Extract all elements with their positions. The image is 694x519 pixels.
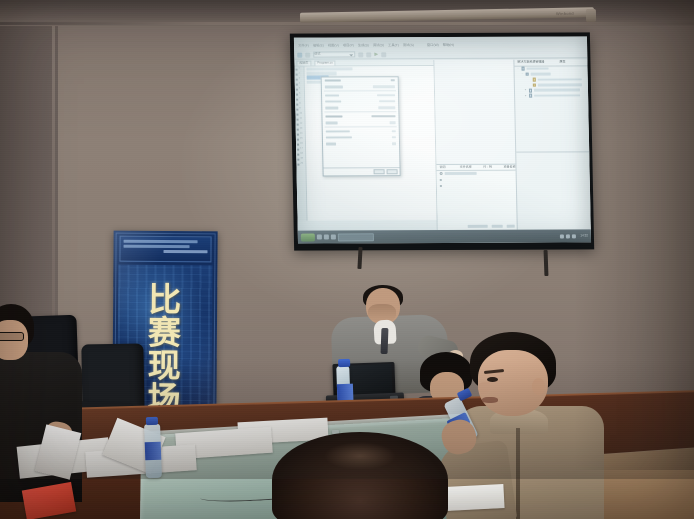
collapse-icon[interactable]: [297, 153, 299, 155]
collapse-icon[interactable]: [296, 88, 298, 90]
collapse-icon[interactable]: [297, 138, 299, 140]
tree-label: [526, 67, 548, 70]
expand-icon[interactable]: +: [524, 89, 527, 92]
popup-row[interactable]: [323, 119, 399, 126]
error-col-project[interactable]: 项目名称: [500, 166, 515, 169]
error-col-line[interactable]: 行 - 列: [480, 166, 500, 169]
line-number: 20: [300, 163, 303, 166]
menu-item-edit[interactable]: 编辑(E): [313, 44, 324, 48]
collapse-icon[interactable]: [297, 123, 299, 125]
menu-item-file[interactable]: 文件(F): [298, 44, 309, 48]
menu-item-window[interactable]: 窗口(W): [427, 44, 439, 48]
menu-item-tools[interactable]: 工具(T): [388, 44, 399, 48]
line-number: 4: [299, 83, 300, 86]
solution-explorer-title: 解决方案资源管理器: [514, 61, 556, 64]
collapse-icon[interactable]: [297, 158, 299, 160]
expand-icon[interactable]: +: [524, 94, 527, 97]
code-line: [307, 72, 337, 76]
tree-label: [534, 94, 580, 97]
error-col-description[interactable]: 说明: [436, 166, 456, 169]
banner-char-1: 比: [113, 283, 217, 317]
collapse-icon[interactable]: [296, 98, 298, 100]
line-number: 5: [299, 88, 300, 91]
run-icon[interactable]: [374, 52, 378, 56]
error-row-text: [445, 172, 477, 175]
presenter-tie: [381, 328, 389, 354]
projected-ide-window: 文件(F) 编辑(E) 视图(V) 项目(P) 生成(B) 调试(D) 工具(T…: [294, 36, 591, 243]
tab-start-page[interactable]: 起始页: [296, 61, 311, 65]
line-number: 1: [298, 68, 299, 71]
banner-headline-line: [164, 250, 208, 253]
photo-scene: Winbond 文件(F) 编辑(E) 视图(V) 项目(P) 生成(B) 调试…: [0, 0, 694, 519]
refresh-icon[interactable]: [381, 52, 386, 57]
taskbar-window-button[interactable]: [338, 233, 374, 241]
banner-headline-block: [119, 236, 211, 263]
line-number: 7: [299, 98, 300, 101]
collapse-icon[interactable]: [297, 148, 299, 150]
line-number: 16: [300, 143, 303, 146]
gutter-row: 20: [296, 162, 305, 167]
line-number: 17: [300, 148, 303, 151]
line-number: 8: [299, 103, 300, 106]
tree-spacer: [528, 78, 531, 81]
project-icon: [532, 83, 536, 87]
folder-icon: [528, 89, 532, 93]
tree-label: [533, 89, 579, 92]
project-icon: [532, 78, 536, 82]
status-strip: [468, 225, 515, 228]
line-number: 13: [300, 128, 303, 131]
menu-item-debug[interactable]: 调试(D): [373, 44, 384, 48]
expand-icon[interactable]: -: [521, 73, 524, 76]
quicklaunch-icon[interactable]: [324, 234, 329, 239]
line-number: 15: [300, 138, 303, 141]
status-position: [492, 225, 503, 228]
expand-icon[interactable]: -: [517, 67, 520, 70]
tree-label: [530, 73, 550, 76]
roller-brand-label: Winbond: [556, 11, 574, 16]
collapse-icon[interactable]: [297, 143, 299, 145]
marker-icon: [440, 185, 442, 187]
windows-taskbar[interactable]: 14:32: [298, 229, 591, 243]
error-list-panel[interactable]: 说明 文件名称 行 - 列 项目名称: [436, 164, 516, 230]
bottom-wall-shadow: [0, 359, 694, 479]
popup-row[interactable]: [322, 104, 398, 111]
eyeglasses-icon: [0, 332, 24, 341]
collapse-icon[interactable]: [296, 103, 298, 105]
tray-icon[interactable]: [566, 234, 570, 238]
line-number: 18: [300, 153, 303, 156]
configuration-dropdown[interactable]: 调试: [313, 52, 355, 58]
popup-row[interactable]: [322, 83, 398, 90]
error-list-row[interactable]: [437, 171, 516, 177]
popup-row[interactable]: [323, 140, 399, 147]
start-button[interactable]: [301, 233, 315, 241]
tray-icon[interactable]: [560, 234, 564, 238]
collapse-icon[interactable]: [297, 133, 299, 135]
line-number: 9: [299, 108, 300, 111]
status-ready: [468, 225, 488, 228]
line-number: 6: [299, 93, 300, 96]
quicklaunch-icon[interactable]: [317, 235, 322, 240]
collapse-icon[interactable]: [296, 73, 298, 75]
collapse-icon[interactable]: [296, 83, 298, 85]
line-number: 14: [300, 133, 303, 136]
editor-pane[interactable]: 起始页 Program.cs 1 2 3 4 5 6 7 8 9: [294, 60, 437, 231]
marker-icon: [440, 179, 442, 181]
ide-toolbar[interactable]: 调试: [294, 49, 587, 59]
menu-item-build[interactable]: 生成(B): [358, 44, 369, 48]
collapse-icon[interactable]: [297, 128, 299, 130]
solution-icon: [521, 67, 525, 71]
tree-spacer: [528, 83, 531, 86]
ide-body: 起始页 Program.cs 1 2 3 4 5 6 7 8 9: [294, 59, 590, 230]
collapse-icon[interactable]: [296, 93, 298, 95]
code-line: [306, 67, 352, 71]
menu-item-view[interactable]: 视图(V): [328, 44, 339, 48]
undo-icon[interactable]: [305, 52, 310, 57]
cut-icon[interactable]: [358, 52, 363, 57]
menu-item-test[interactable]: 测试(S): [403, 44, 414, 48]
collapse-icon[interactable]: [295, 68, 297, 70]
collapse-icon[interactable]: [297, 163, 299, 165]
tab-program-cs[interactable]: Program.cs: [314, 61, 335, 65]
folder-icon: [525, 72, 529, 76]
projection-surface: 文件(F) 编辑(E) 视图(V) 项目(P) 生成(B) 调试(D) 工具(T…: [294, 36, 591, 243]
line-number: 11: [299, 118, 302, 121]
info-icon: [440, 172, 443, 175]
main-document-pane[interactable]: 说明 文件名称 行 - 列 项目名称: [434, 60, 516, 230]
folder-icon: [529, 94, 533, 98]
menu-item-help[interactable]: 帮助(H): [443, 44, 454, 48]
collapse-icon[interactable]: [296, 113, 298, 115]
line-number: 12: [300, 123, 303, 126]
collapse-icon[interactable]: [296, 108, 298, 110]
properties-popup[interactable]: [321, 76, 401, 176]
projection-screen: 文件(F) 编辑(E) 视图(V) 项目(P) 生成(B) 调试(D) 工具(T…: [290, 32, 594, 250]
ide-menu-bar[interactable]: 文件(F) 编辑(E) 视图(V) 项目(P) 生成(B) 调试(D) 工具(T…: [294, 41, 587, 49]
copy-icon[interactable]: [366, 52, 371, 57]
line-number: 19: [300, 158, 303, 161]
menu-item-project[interactable]: 项目(P): [343, 44, 354, 48]
popup-ok-button[interactable]: [374, 169, 385, 174]
collapse-icon[interactable]: [296, 78, 298, 80]
error-list-markers: [440, 179, 442, 191]
banner-headline-line: [124, 245, 190, 248]
line-number: 2: [299, 73, 300, 76]
popup-cancel-button[interactable]: [387, 169, 398, 174]
popup-footer: [323, 167, 399, 175]
error-col-file[interactable]: 文件名称: [457, 166, 481, 169]
banner-headline-line: [124, 240, 198, 243]
save-icon[interactable]: [297, 52, 302, 57]
line-number: 10: [299, 113, 302, 116]
collapse-icon[interactable]: [297, 118, 299, 120]
screen-strap-right: [544, 250, 549, 276]
line-number: 3: [299, 78, 300, 81]
status-insert: [507, 225, 515, 228]
quicklaunch-icon[interactable]: [331, 234, 336, 239]
